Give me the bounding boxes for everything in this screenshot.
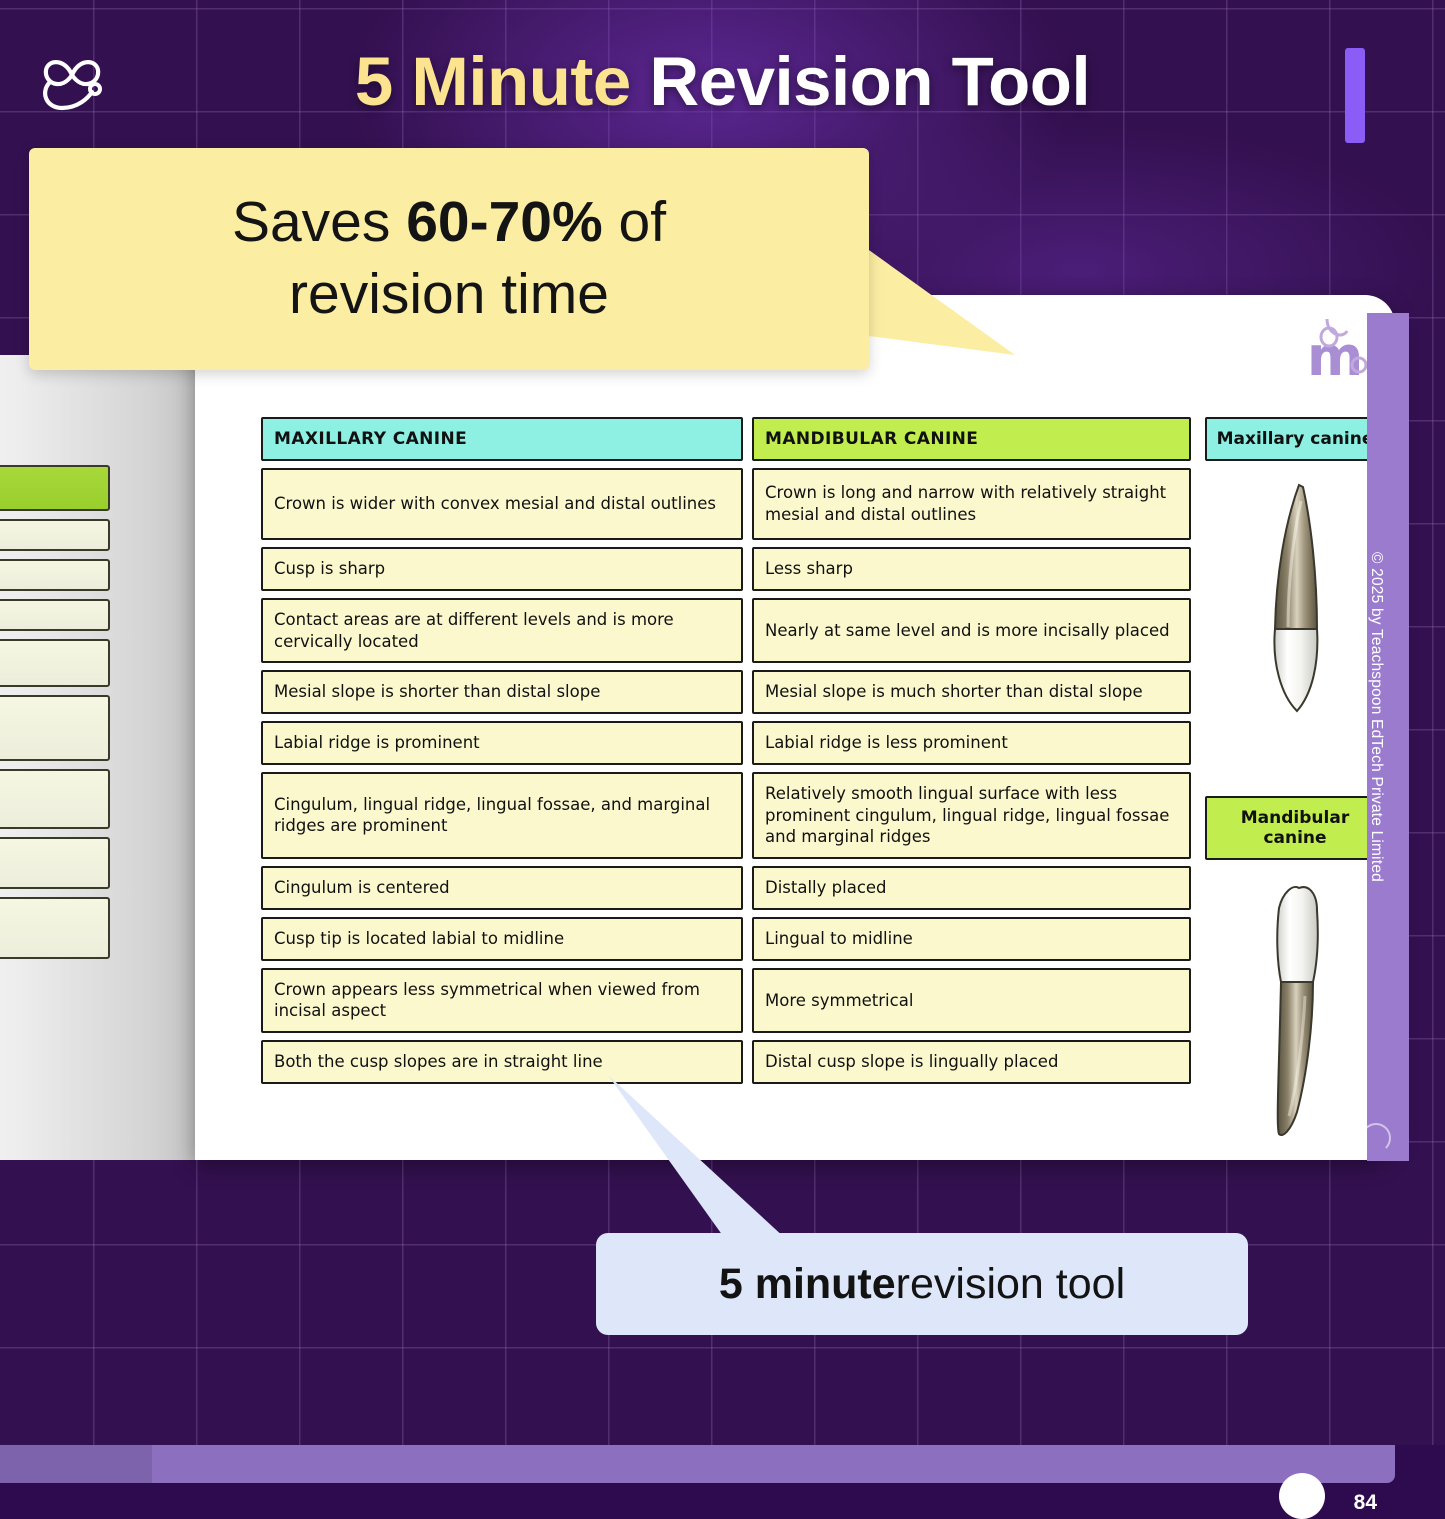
savings-suffix: of	[603, 190, 666, 254]
page-title-rest: Revision Tool	[649, 43, 1090, 120]
previous-page-row	[0, 639, 110, 687]
table-cell-mandibular: Distal cusp slope is lingually placed	[752, 1040, 1191, 1084]
table-cell-mandibular: More symmetrical	[752, 968, 1191, 1034]
mandibular-canine-tooth-icon	[1255, 878, 1335, 1148]
table-cell-mandibular: Relatively smooth lingual surface with l…	[752, 772, 1191, 859]
blue-callout-tail	[608, 1075, 788, 1250]
page-number: 84	[1354, 1491, 1377, 1515]
previous-page-row: al direction	[0, 897, 110, 959]
maxillary-canine-tooth-icon	[1255, 479, 1335, 734]
previous-page-row: er mesial	[0, 837, 110, 889]
table-row: Crown appears less symmetrical when view…	[261, 968, 1191, 1034]
savings-prefix: Saves	[232, 190, 406, 254]
table-cell-mandibular: Mesial slope is much shorter than distal…	[752, 670, 1191, 714]
table-cell-maxillary: Cusp is sharp	[261, 547, 743, 591]
copyright-notice: © 2025 by Teachspoon EdTech Private Limi…	[1367, 552, 1385, 882]
table-cell-mandibular: Less sharp	[752, 547, 1191, 591]
table-row: Cusp tip is located labial to midline Li…	[261, 917, 1191, 961]
table-row: Crown is wider with convex mesial and di…	[261, 468, 1191, 540]
table-row: Cingulum is centered Distally placed	[261, 866, 1191, 910]
table-cell-mandibular: Labial ridge is less prominent	[752, 721, 1191, 765]
page-title-highlight: 5 Minute	[355, 43, 631, 120]
page-footer-band: 84	[150, 1445, 1395, 1483]
revision-tool-callout: 5 minute revision tool	[596, 1233, 1248, 1335]
savings-callout-line1: Saves 60-70% of	[232, 187, 666, 259]
table-header-maxillary: MAXILLARY CANINE	[261, 417, 743, 461]
title-accent-bar	[1345, 48, 1365, 143]
table-row: Mesial slope is shorter than distal slop…	[261, 670, 1191, 714]
book-spread: TYPE with more -incisal angle er mesial …	[0, 295, 1405, 1160]
previous-page-row	[0, 559, 110, 591]
table-cell-mandibular: Nearly at same level and is more incisal…	[752, 598, 1191, 664]
table-header-mandibular: MANDIBULAR CANINE	[752, 417, 1191, 461]
savings-callout-line2: revision time	[289, 259, 609, 331]
yellow-callout-tail	[855, 240, 1015, 355]
table-header-row: MAXILLARY CANINE MANDIBULAR CANINE	[261, 417, 1191, 461]
table-cell-mandibular: Lingual to midline	[752, 917, 1191, 961]
page-footer-band-left	[0, 1445, 152, 1483]
table-cell-maxillary: Crown appears less symmetrical when view…	[261, 968, 743, 1034]
previous-page-table: TYPE with more -incisal angle er mesial …	[0, 465, 110, 967]
table-row: Cingulum, lingual ridge, lingual fossae,…	[261, 772, 1191, 859]
table-cell-maxillary: Crown is wider with convex mesial and di…	[261, 468, 743, 540]
table-cell-mandibular: Crown is long and narrow with relatively…	[752, 468, 1191, 540]
previous-page-row	[0, 519, 110, 551]
table-cell-maxillary: Cusp tip is located labial to midline	[261, 917, 743, 961]
page-side-band: © 2025 by Teachspoon EdTech Private Limi…	[1367, 313, 1409, 1161]
table-row: Labial ridge is prominent Labial ridge i…	[261, 721, 1191, 765]
previous-page-row: with more	[0, 695, 110, 761]
page-title: 5 Minute Revision Tool	[0, 42, 1445, 121]
tooth-illustration-panel: Maxillary canine	[1205, 417, 1385, 1148]
table-row: Cusp is sharp Less sharp	[261, 547, 1191, 591]
table-cell-maxillary: Contact areas are at different levels an…	[261, 598, 743, 664]
revision-tool-callout-bold: 5 minute	[719, 1260, 896, 1309]
savings-callout: Saves 60-70% of revision time	[29, 148, 869, 370]
previous-page: TYPE with more -incisal angle er mesial …	[0, 355, 195, 1160]
mandibular-canine-label: Mandibular canine	[1205, 796, 1385, 860]
table-cell-maxillary: Labial ridge is prominent	[261, 721, 743, 765]
table-cell-maxillary: Mesial slope is shorter than distal slop…	[261, 670, 743, 714]
revision-tool-callout-rest: revision tool	[896, 1260, 1125, 1309]
table-cell-mandibular: Distally placed	[752, 866, 1191, 910]
table-cell-maxillary: Cingulum is centered	[261, 866, 743, 910]
footer-circle-decoration	[1279, 1473, 1325, 1519]
table-row: Contact areas are at different levels an…	[261, 598, 1191, 664]
table-cell-maxillary: Cingulum, lingual ridge, lingual fossae,…	[261, 772, 743, 859]
savings-percent: 60-70%	[406, 190, 602, 254]
previous-page-header-cell: TYPE	[0, 465, 110, 511]
current-page: m MAXILLARY CANINE MANDIBULAR CANINE Cro…	[195, 295, 1395, 1160]
maxillary-canine-label: Maxillary canine	[1205, 417, 1385, 461]
previous-page-row: -incisal angle	[0, 769, 110, 829]
previous-page-row	[0, 599, 110, 631]
canine-comparison-table: MAXILLARY CANINE MANDIBULAR CANINE Crown…	[261, 417, 1191, 1091]
decorative-ring-icon	[1361, 1123, 1391, 1153]
